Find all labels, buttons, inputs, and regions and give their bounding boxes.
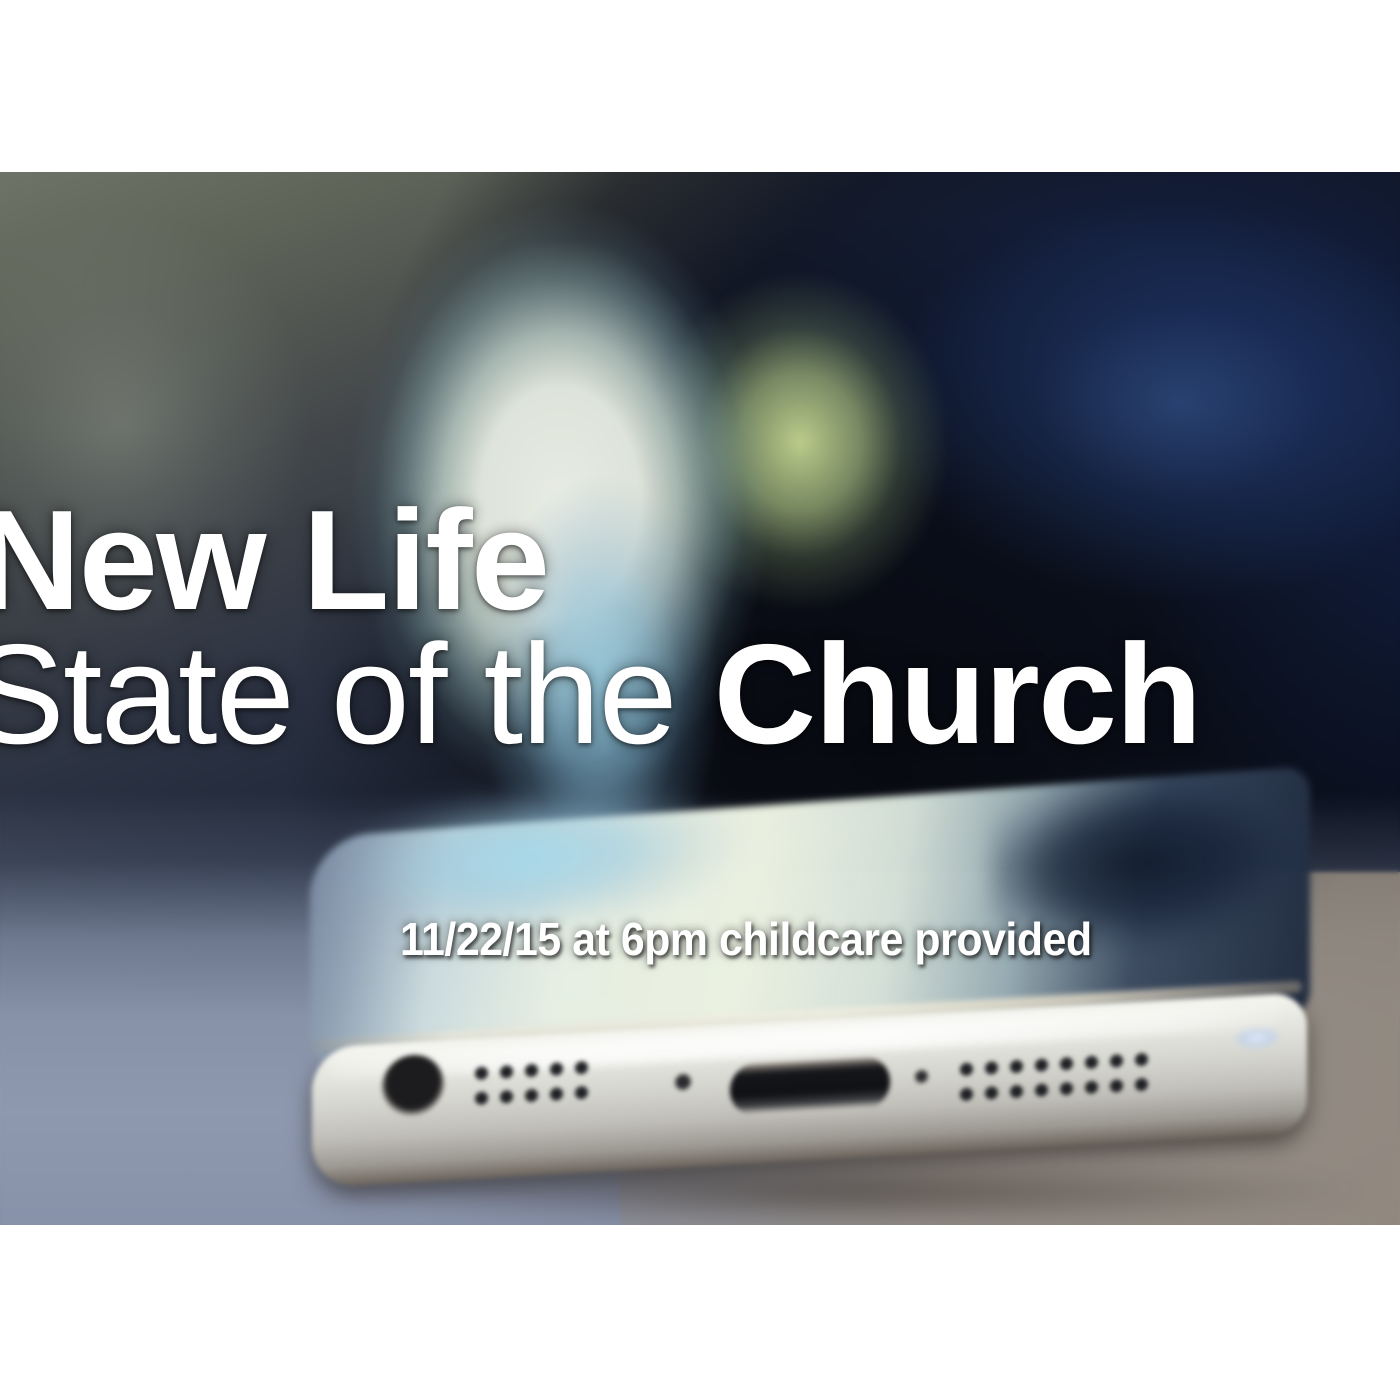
page-title: New Life bbox=[0, 490, 548, 632]
heading-bold-part: Church bbox=[714, 615, 1201, 774]
poster-typography: New Life State of the Church 11/22/15 at… bbox=[0, 172, 1400, 1225]
page-subtitle-heading: State of the Church bbox=[0, 624, 1200, 766]
letterbox-band-top bbox=[0, 0, 1400, 172]
event-details-text: 11/22/15 at 6pm childcare provided bbox=[400, 912, 1092, 966]
promo-poster: New Life State of the Church 11/22/15 at… bbox=[0, 0, 1400, 1400]
letterbox-band-bottom bbox=[0, 1225, 1400, 1400]
heading-light-part: State of the bbox=[0, 615, 714, 774]
